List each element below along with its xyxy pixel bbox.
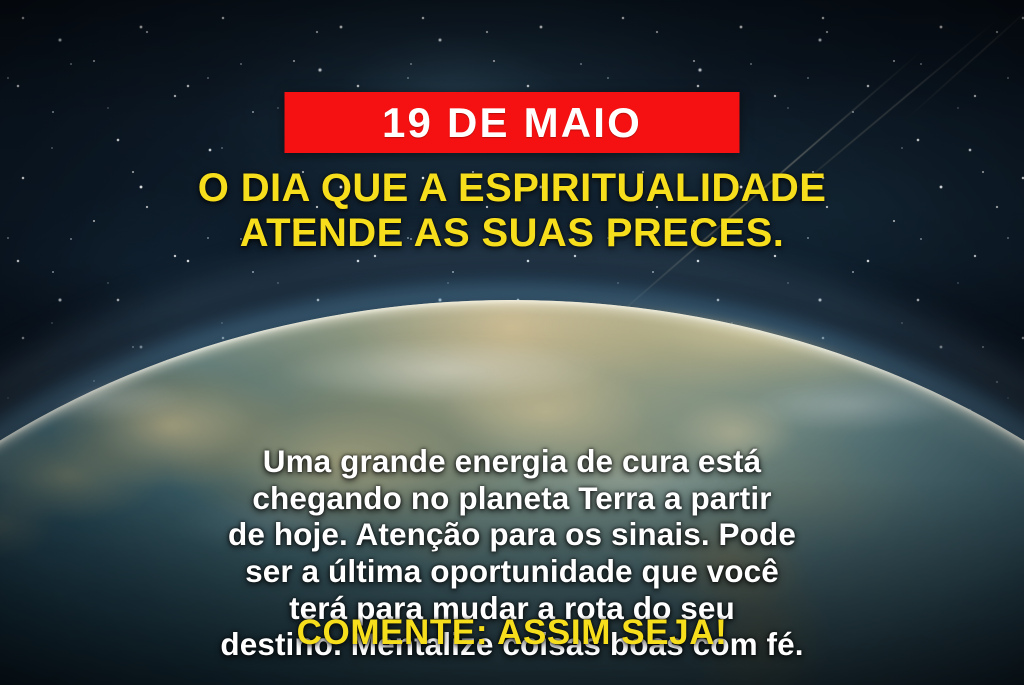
poster-canvas: 19 DE MAIO O DIA QUE A ESPIRITUALIDADE A… <box>0 0 1024 685</box>
call-to-action-text: COMENTE: ASSIM SEJA! <box>62 614 962 653</box>
date-badge: 19 DE MAIO <box>285 92 740 153</box>
date-badge-label: 19 DE MAIO <box>382 102 642 144</box>
poster-content: 19 DE MAIO O DIA QUE A ESPIRITUALIDADE A… <box>0 0 1024 685</box>
headline-text: O DIA QUE A ESPIRITUALIDADE ATENDE AS SU… <box>32 166 992 256</box>
